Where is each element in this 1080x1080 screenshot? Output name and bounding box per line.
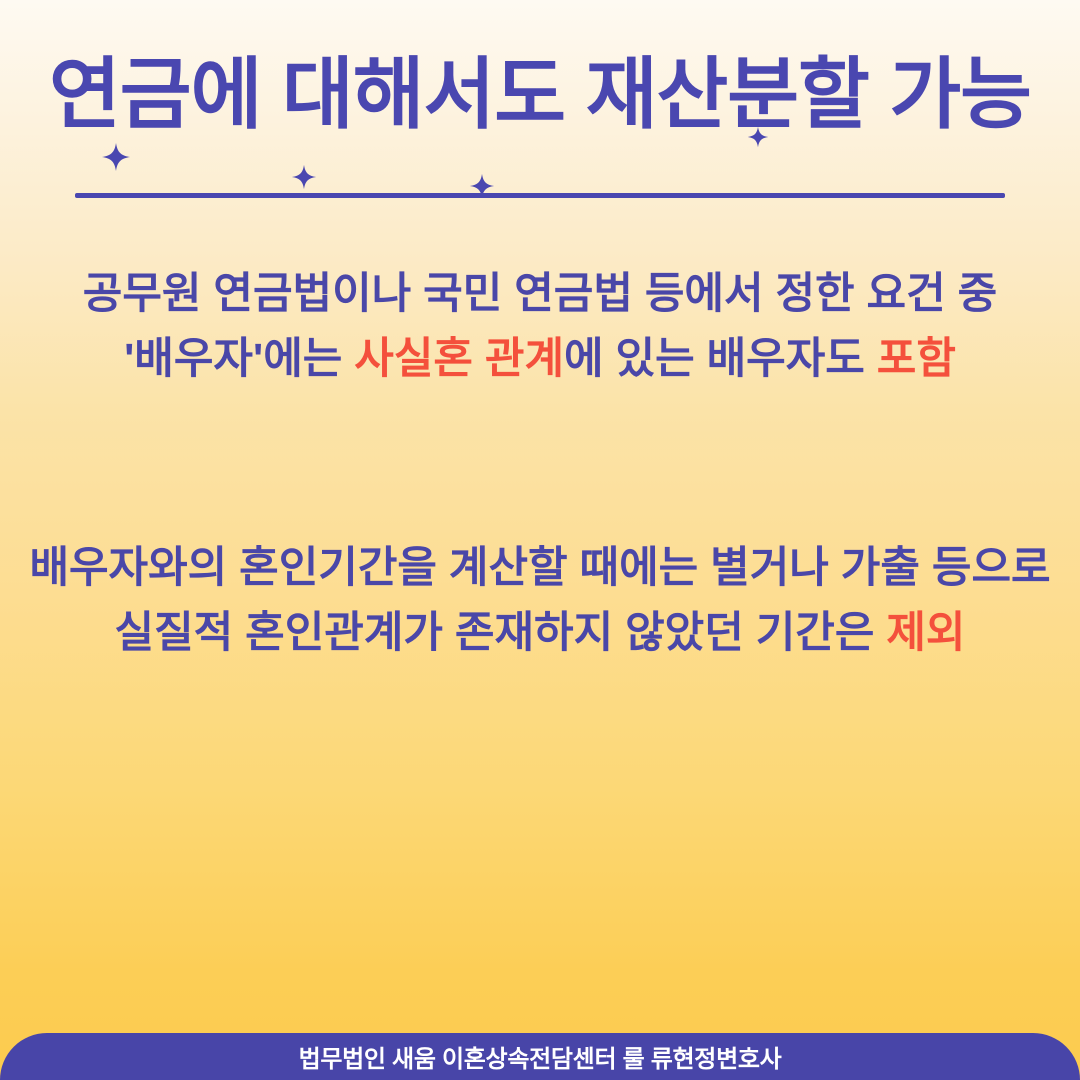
footer-bar: 법무법인 새움 이혼상속전담센터 룰 류현정변호사 — [0, 1033, 1080, 1080]
paragraph-two: 배우자와의 혼인기간을 계산할 때에는 별거나 가출 등으로 실질적 혼인관계가… — [0, 536, 1080, 667]
highlight-text: 포함 — [877, 335, 956, 383]
text-segment: '배우자'에는 — [124, 335, 354, 383]
title-block: 연금에 대해서도 재산분할 가능 — [0, 48, 1080, 140]
text-segment: 에 있는 배우자도 — [564, 335, 877, 383]
page-title: 연금에 대해서도 재산분할 가능 — [49, 48, 1031, 140]
footer-branding-text: 법무법인 새움 이혼상속전담센터 룰 류현정변호사 — [299, 1039, 782, 1074]
title-divider — [75, 193, 1005, 198]
sparkle-icon — [101, 142, 131, 172]
paragraph-one-line-two: '배우자'에는 사실혼 관계에 있는 배우자도 포함 — [0, 327, 1080, 392]
highlight-text: 제외 — [886, 609, 965, 657]
text-segment: 실질적 혼인관계가 존재하지 않았던 기간은 — [115, 609, 887, 657]
paragraph-one-line-one: 공무원 연금법이나 국민 연금법 등에서 정한 요건 중 — [0, 262, 1080, 327]
sparkle-icon — [291, 164, 317, 190]
paragraph-two-line-two: 실질적 혼인관계가 존재하지 않았던 기간은 제외 — [0, 601, 1080, 666]
infographic-card: 연금에 대해서도 재산분할 가능 공무원 연금법이나 국민 연금법 등에서 정한… — [0, 0, 1080, 1080]
paragraph-one: 공무원 연금법이나 국민 연금법 등에서 정한 요건 중 '배우자'에는 사실혼… — [0, 262, 1080, 393]
highlight-text: 사실혼 관계 — [354, 335, 564, 383]
paragraph-two-line-one: 배우자와의 혼인기간을 계산할 때에는 별거나 가출 등으로 — [0, 536, 1080, 601]
